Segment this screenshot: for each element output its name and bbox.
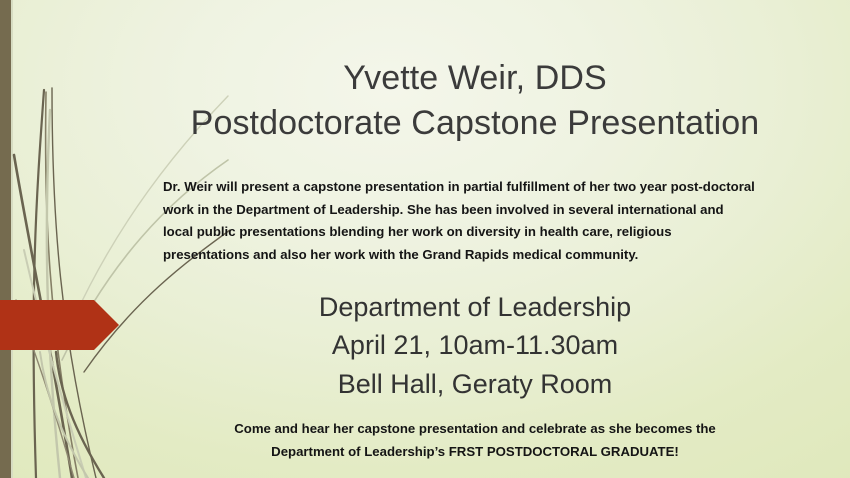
description-paragraph: Dr. Weir will present a capstone present… — [163, 176, 755, 267]
left-accent-hairline — [11, 0, 13, 478]
event-datetime: April 21, 10am-11.30am — [120, 326, 830, 364]
invitation-line-2: Department of Leadership’s FRST POSTDOCT… — [120, 441, 830, 464]
slide-title: Yvette Weir, DDS Postdoctorate Capstone … — [120, 56, 830, 146]
event-location: Bell Hall, Geraty Room — [120, 365, 830, 403]
arrow-shape-icon — [0, 300, 119, 350]
title-line-2: Postdoctorate Capstone Presentation — [120, 101, 830, 146]
event-department: Department of Leadership — [120, 288, 830, 326]
left-accent-band — [0, 0, 11, 478]
invitation-line-1: Come and hear her capstone presentation … — [120, 418, 830, 441]
invitation-note: Come and hear her capstone presentation … — [120, 418, 830, 463]
presentation-slide: Yvette Weir, DDS Postdoctorate Capstone … — [0, 0, 850, 478]
event-details: Department of Leadership April 21, 10am-… — [120, 288, 830, 403]
title-line-1: Yvette Weir, DDS — [120, 56, 830, 101]
